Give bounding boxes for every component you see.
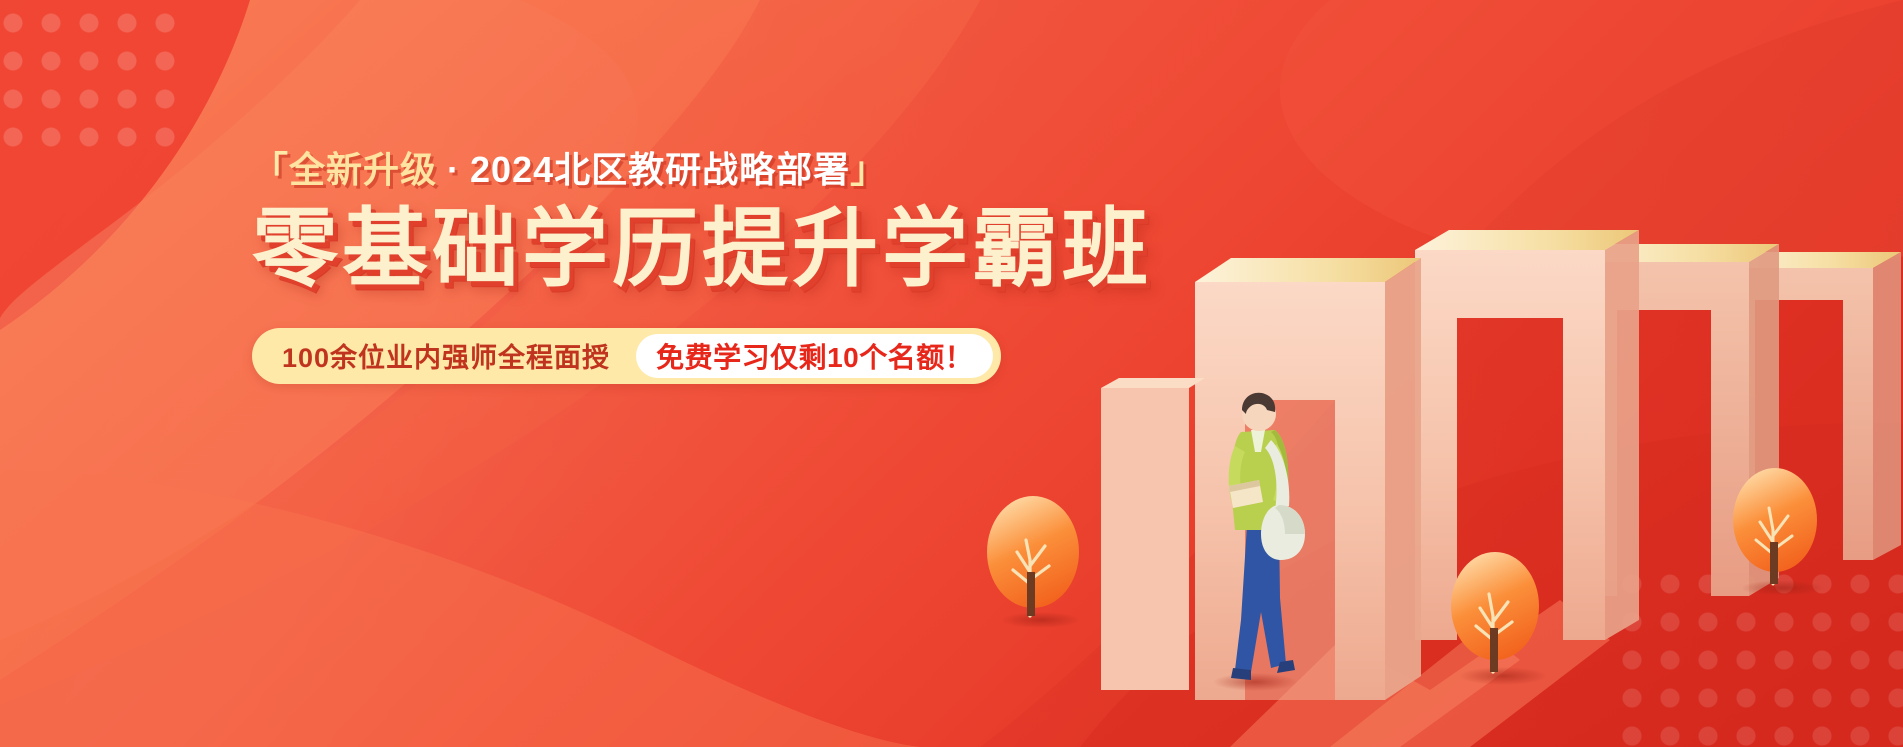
- status-badge: 免费学习仅剩10个名额！: [636, 334, 993, 378]
- dot-grid-top-left-icon: [0, 4, 180, 164]
- bracket-open: 「: [252, 150, 289, 190]
- bracket-close: 」: [850, 150, 887, 190]
- eyebrow-line: 「 全新升级 · 2024北区教研战略部署 」: [252, 150, 1012, 190]
- copy-block: 「 全新升级 · 2024北区教研战略部署 」 零基础学历提升学霸班 100余位…: [252, 150, 1012, 384]
- eyebrow-separator: ·: [437, 150, 470, 190]
- eyebrow-white-text: 2024北区教研战略部署: [470, 150, 850, 190]
- offer-pill[interactable]: 100余位业内强师全程面授 免费学习仅剩10个名额！: [252, 328, 1001, 384]
- pill-left-label: 100余位业内强师全程面授: [282, 336, 636, 375]
- dot-grid-bottom-right-icon: [1613, 565, 1903, 747]
- eyebrow-highlight: 全新升级: [289, 150, 437, 190]
- page-title: 零基础学历提升学霸班: [252, 204, 1012, 294]
- promo-banner: 「 全新升级 · 2024北区教研战略部署 」 零基础学历提升学霸班 100余位…: [0, 0, 1903, 747]
